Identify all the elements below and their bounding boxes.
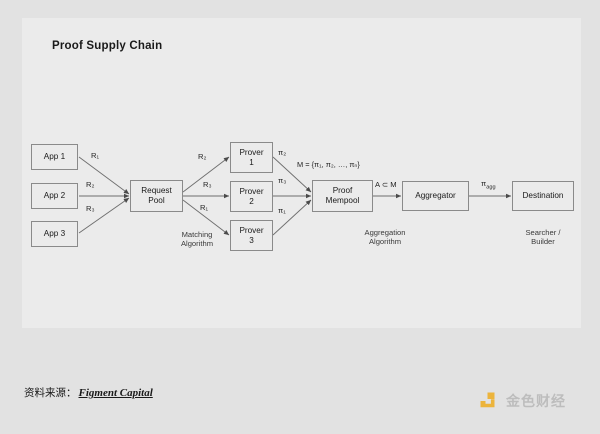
diagram-edges [0,0,600,434]
edge-label-prover2-mempool: π₃ [278,176,286,185]
node-prover3[interactable]: Prover 3 [230,220,273,251]
edge-label-aggregator-destination: πagg [481,179,496,191]
node-app2[interactable]: App 2 [31,183,78,209]
edge-label-app2-pool: R₂ [86,180,94,189]
source-link[interactable]: Figment Capital [79,387,153,399]
node-request-pool[interactable]: Request Pool [130,180,183,212]
jinse-logo-icon [478,390,500,412]
mempool-set-notation: M = {π₁, π₂, …, πₙ} [297,160,360,169]
node-destination[interactable]: Destination [512,181,574,211]
edge-label-pool-prover3: R₁ [200,203,208,212]
source-label: 资料来源： [24,385,77,400]
watermark: 金色财经 [478,390,566,412]
watermark-text: 金色财经 [506,391,566,411]
pi-agg-subscript: agg [486,185,495,191]
edge-label-prover3-mempool: π₁ [278,206,286,215]
node-aggregator[interactable]: Aggregator [402,181,469,211]
source-attribution: 资料来源： Figment Capital [24,385,153,400]
caption-searcher-builder: Searcher / Builder [507,228,579,247]
edge-label-mempool-aggregator: A ⊂ M [375,180,397,189]
edge-label-prover1-mempool: π₂ [278,148,286,157]
caption-aggregation-algorithm: Aggregation Algorithm [342,228,428,247]
edge-label-pool-prover1: R₂ [198,152,206,161]
node-prover2[interactable]: Prover 2 [230,181,273,212]
edge-label-app1-pool: R₁ [91,151,99,160]
node-prover1[interactable]: Prover 1 [230,142,273,173]
node-proof-mempool[interactable]: Proof Mempool [312,180,373,212]
edge-label-pool-prover2: R₃ [203,180,212,189]
node-app3[interactable]: App 3 [31,221,78,247]
node-app1[interactable]: App 1 [31,144,78,170]
caption-matching-algorithm: Matching Algorithm [166,230,228,249]
edge-label-app3-pool: R₃ [86,204,95,213]
